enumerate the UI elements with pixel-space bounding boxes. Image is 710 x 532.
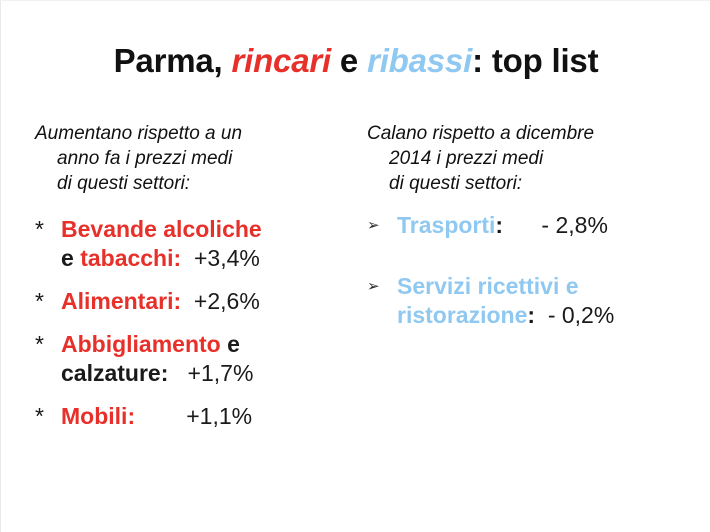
title-part-2: e [331,42,367,79]
title-emphasis-rincari: rincari [231,42,331,79]
asterisk-bullet-icon: * [35,215,44,244]
list-item[interactable]: * Alimentari: +2,6% [35,287,365,316]
right-column-list: ➢ Trasporti: - 2,8% ➢ Servizi ricettivi … [367,211,697,330]
item-label-red: Bevande alcoliche [61,216,262,242]
item-separator: : [173,288,181,314]
item-separator: : [527,302,535,328]
title-part-3: : top list [472,42,598,79]
item-label-blue: Servizi ricettivi e [397,273,579,299]
item-separator: : [127,403,135,429]
title-emphasis-ribassi: ribassi [367,42,472,79]
left-intro-line-3: di questi settori: [35,171,365,196]
arrow-bullet-icon: ➢ [367,211,380,241]
list-item[interactable]: * Bevande alcoliche e tabacchi: +3,4% [35,215,365,273]
right-column: Calano rispetto a dicembre 2014 i prezzi… [367,121,697,330]
item-label-black-2: calzature [61,360,161,386]
item-value: +2,6% [181,288,260,314]
asterisk-bullet-icon: * [35,402,44,431]
right-intro-line-2: 2014 i prezzi medi [367,146,697,171]
title-part-1: Parma, [114,42,232,79]
left-intro-line-2: anno fa i prezzi medi [35,146,365,171]
arrow-bullet-icon: ➢ [367,272,380,302]
item-label-red: Alimentari [61,288,173,314]
right-intro-line-3: di questi settori: [367,171,697,196]
right-intro-line-1: Calano rispetto a dicembre [367,121,697,146]
item-separator: : [495,212,503,238]
item-label-blue: Trasporti [397,212,495,238]
item-label-black: e [221,331,240,357]
list-item[interactable]: * Mobili: +1,1% [35,402,365,431]
item-label-red-2: tabacchi [80,245,173,271]
item-label-blue-2: ristorazione [397,302,527,328]
slide-canvas: Parma, rincari e ribassi: top list Aumen… [0,0,710,532]
right-column-intro: Calano rispetto a dicembre 2014 i prezzi… [367,121,697,196]
item-value: - 0,2% [535,302,614,328]
item-value: - 2,8% [503,212,608,238]
item-value: +3,4% [181,245,260,271]
left-column: Aumentano rispetto a un anno fa i prezzi… [35,121,365,431]
left-column-intro: Aumentano rispetto a un anno fa i prezzi… [35,121,365,196]
item-label-red: Abbigliamento [61,331,221,357]
item-value: +1,7% [168,360,253,386]
left-intro-line-1: Aumentano rispetto a un [35,121,365,146]
item-label-black: e [61,245,80,271]
list-item[interactable]: * Abbigliamento e calzature: +1,7% [35,330,365,388]
asterisk-bullet-icon: * [35,287,44,316]
list-item[interactable]: ➢ Servizi ricettivi e ristorazione: - 0,… [367,272,697,330]
list-item[interactable]: ➢ Trasporti: - 2,8% [367,211,697,240]
page-title: Parma, rincari e ribassi: top list [1,42,710,80]
item-value: +1,1% [135,403,252,429]
left-column-list: * Bevande alcoliche e tabacchi: +3,4% * … [35,215,365,431]
item-label-red: Mobili [61,403,127,429]
asterisk-bullet-icon: * [35,330,44,359]
